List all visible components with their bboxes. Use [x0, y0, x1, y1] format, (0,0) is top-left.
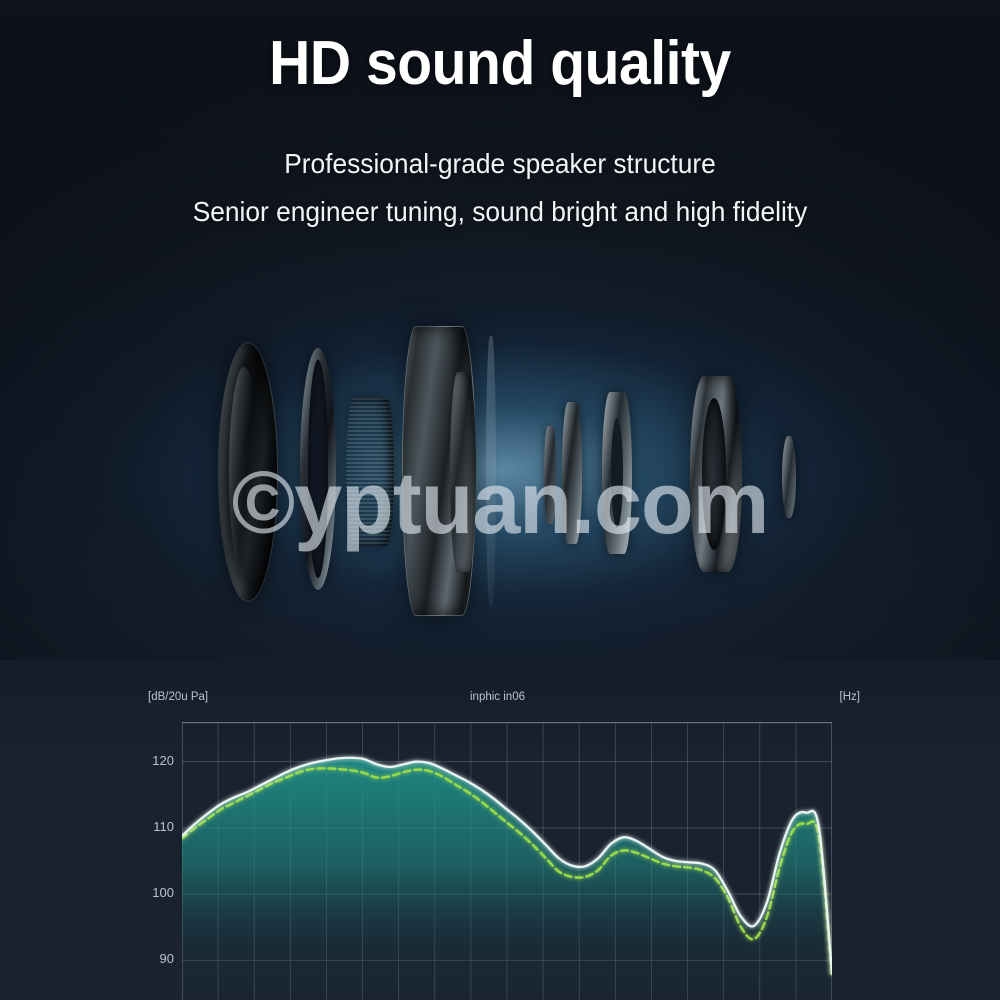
hero-subtitle-line-2: Senior engineer tuning, sound bright and… [30, 196, 970, 228]
speaker-part-spacer-disc [782, 436, 796, 518]
speaker-part-diaphragm-cone [218, 342, 278, 602]
chart-svg [182, 722, 832, 1000]
chart-y-tick-110: 110 [134, 819, 174, 834]
hero-subtitle-line-1: Professional-grade speaker structure [30, 148, 970, 180]
speaker-part-washer-medium [562, 402, 582, 544]
chart-x-axis-label: [Hz] [840, 691, 860, 703]
chart-y-tick-100: 100 [134, 885, 174, 900]
chart-header: [dB/20u Pa] inphic in06 [Hz] [148, 691, 860, 709]
speaker-part-back-plate [486, 336, 496, 606]
exploded-speaker-diagram [150, 320, 880, 620]
hero-section: HD sound quality Professional-grade spea… [0, 0, 1000, 660]
speaker-part-top-plate [450, 372, 476, 572]
speaker-part-suspension-ring [300, 348, 336, 590]
chart-y-axis-label: [dB/20u Pa] [148, 691, 208, 703]
speaker-part-voice-coil [346, 398, 394, 546]
page-title: HD sound quality [40, 28, 960, 99]
product-detail-page: HD sound quality Professional-grade spea… [0, 0, 1000, 1000]
speaker-part-washer-small [544, 426, 556, 524]
frequency-response-chart: [dB/20u Pa] inphic in06 [Hz] 90100110120 [0, 660, 1000, 1000]
speaker-part-outer-ring [690, 376, 742, 572]
chart-y-tick-90: 90 [134, 951, 174, 966]
speaker-part-washer-large [602, 392, 632, 554]
chart-y-tick-120: 120 [134, 753, 174, 768]
chart-plot-area [182, 722, 832, 1000]
chart-title: inphic in06 [470, 691, 525, 703]
